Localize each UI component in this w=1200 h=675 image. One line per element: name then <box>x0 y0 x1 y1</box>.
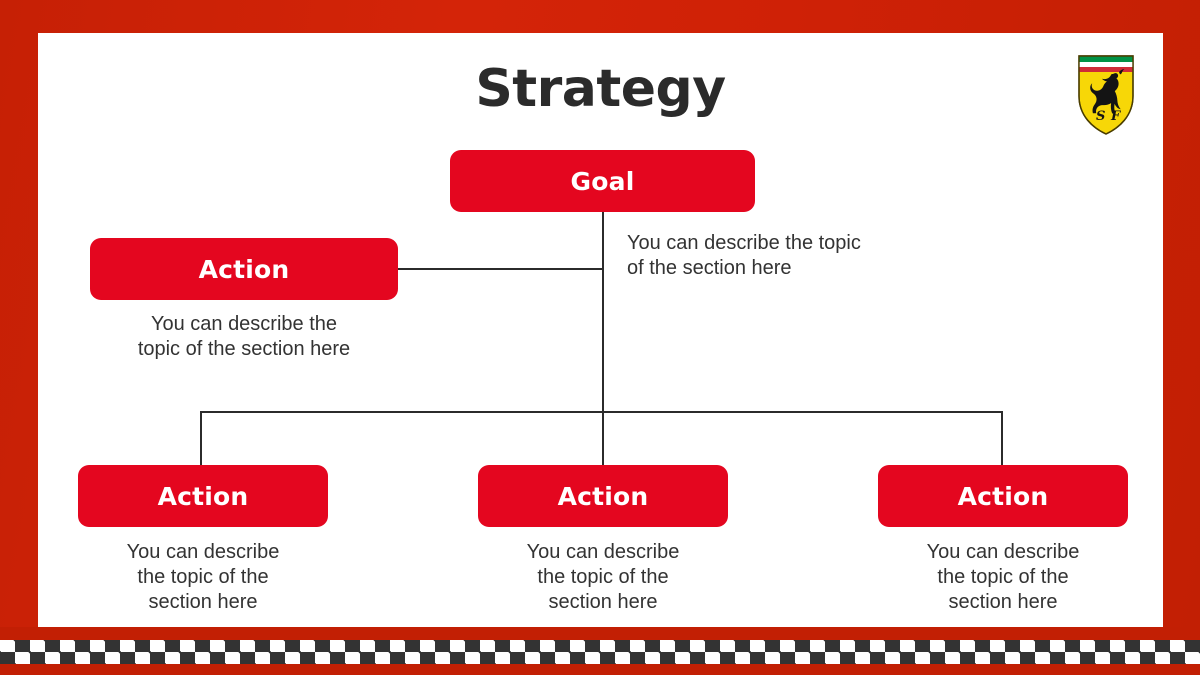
slide-card: Strategy S F <box>38 33 1163 627</box>
node-action-bottom-1-description: You can describe the topic of the sectio… <box>78 540 328 615</box>
svg-text:F: F <box>1110 109 1121 124</box>
node-action-bottom-3-label: Action <box>878 465 1128 527</box>
node-action-bottom-2-label: Action <box>478 465 728 527</box>
node-action-left-description: You can describe the topic of the sectio… <box>90 312 398 362</box>
node-action-bottom-3[interactable]: Action You can describe the topic of the… <box>878 465 1128 615</box>
node-goal[interactable]: Goal <box>450 150 755 212</box>
footer-strip <box>0 627 1200 675</box>
node-action-left[interactable]: Action You can describe the topic of the… <box>90 238 398 362</box>
connector-left-action <box>398 268 603 270</box>
checkered-flag-pattern <box>0 640 1200 664</box>
node-action-bottom-2-description: You can describe the topic of the sectio… <box>478 540 728 615</box>
node-action-bottom-1-label: Action <box>78 465 328 527</box>
connector-drop-3 <box>1001 411 1003 466</box>
node-action-bottom-1[interactable]: Action You can describe the topic of the… <box>78 465 328 615</box>
connector-drop-2 <box>602 411 604 466</box>
connector-goal-trunk <box>602 212 604 412</box>
connector-drop-1 <box>200 411 202 466</box>
node-goal-description: You can describe the topic of the sectio… <box>627 231 977 281</box>
page-title: Strategy <box>38 59 1163 119</box>
node-goal-label: Goal <box>450 150 755 212</box>
svg-text:S: S <box>1096 109 1105 124</box>
node-action-bottom-2[interactable]: Action You can describe the topic of the… <box>478 465 728 615</box>
node-action-bottom-3-description: You can describe the topic of the sectio… <box>878 540 1128 615</box>
node-action-left-label: Action <box>90 238 398 300</box>
slide-canvas: Strategy S F <box>0 0 1200 675</box>
ferrari-shield-logo-icon: S F <box>1075 50 1137 136</box>
